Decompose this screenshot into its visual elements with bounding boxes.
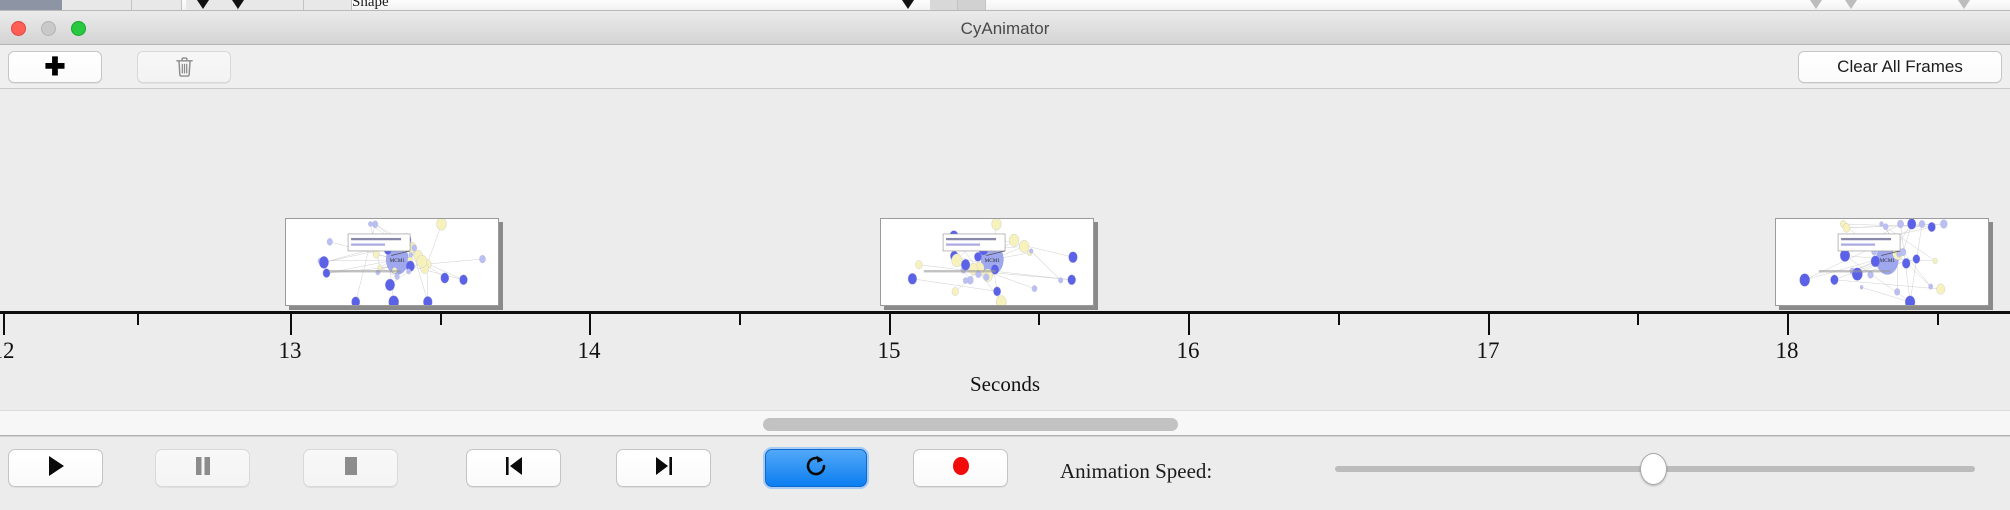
axis-tick-label: 15 (878, 338, 901, 364)
axis-tick-major (1488, 314, 1490, 335)
background-window-marker-icon (902, 0, 914, 9)
frame-image: MCM1 (1775, 218, 1989, 306)
record-icon (949, 453, 973, 484)
skip-back-icon (503, 454, 525, 483)
axis-tick-major (3, 314, 5, 335)
clear-all-frames-label: Clear All Frames (1837, 57, 1963, 77)
play-icon (45, 454, 67, 483)
axis-tick-minor (1338, 314, 1340, 325)
trash-icon (175, 56, 194, 78)
scrollbar-thumb[interactable] (763, 418, 1178, 431)
frame-image: MCM1 (285, 218, 499, 306)
skip-start-button[interactable] (466, 449, 561, 487)
background-window-marker-icon (1958, 0, 1970, 9)
axis-tick-label: 14 (578, 338, 601, 364)
timeline-panel[interactable]: MCM1MCM1MCM1 12131415161718 Seconds (0, 89, 2010, 410)
pause-icon (193, 454, 213, 483)
background-window-marker-icon (232, 0, 244, 9)
svg-text:MCM1: MCM1 (985, 258, 1001, 264)
background-window-selected-tab (0, 0, 62, 11)
skip-forward-icon (653, 454, 675, 483)
axis-tick-label: 17 (1477, 338, 1500, 364)
axis-tick-minor (1038, 314, 1040, 325)
axis-title: Seconds (0, 372, 2010, 397)
svg-text:MCM1: MCM1 (390, 258, 406, 264)
axis-tick-label: 12 (0, 338, 15, 364)
time-axis: 12131415161718 Seconds (0, 311, 2010, 410)
axis-line (0, 311, 2010, 314)
loop-button[interactable] (765, 449, 867, 487)
axis-tick-major (1188, 314, 1190, 335)
cyanimator-window: Shape CyAnimator ✚ Clear All Frames (0, 0, 2010, 510)
background-window-marker-icon (197, 0, 209, 9)
axis-tick-label: 18 (1776, 338, 1799, 364)
timeline-frame-thumbnail[interactable]: MCM1 (1775, 218, 1993, 310)
delete-frame-button[interactable] (137, 51, 231, 83)
axis-tick-major (1787, 314, 1789, 335)
background-window-marker-icon (1845, 0, 1857, 9)
background-window-tab (304, 0, 352, 11)
axis-tick-major (889, 314, 891, 335)
axis-tick-major (290, 314, 292, 335)
timeline-frame-thumbnail[interactable]: MCM1 (880, 218, 1098, 310)
playback-controls: Animation Speed: (0, 436, 2010, 510)
background-window-tab (238, 0, 304, 11)
record-button[interactable] (913, 449, 1008, 487)
axis-tick-minor (137, 314, 139, 325)
background-window-marker-icon (1810, 0, 1822, 9)
axis-tick-major (589, 314, 591, 335)
axis-tick-minor (739, 314, 741, 325)
axis-tick-minor (1937, 314, 1939, 325)
animation-speed-slider[interactable] (1335, 466, 1975, 472)
add-frame-button[interactable]: ✚ (8, 51, 102, 83)
horizontal-scrollbar[interactable] (0, 410, 2010, 436)
background-window-tab (958, 0, 986, 11)
page-title: CyAnimator (0, 19, 2010, 39)
frame-image: MCM1 (880, 218, 1094, 306)
stop-button[interactable] (303, 449, 398, 487)
background-window-sliver: Shape (0, 0, 2010, 11)
stop-icon (341, 454, 361, 483)
background-window-tab (132, 0, 182, 11)
pause-button[interactable] (155, 449, 250, 487)
axis-tick-label: 16 (1177, 338, 1200, 364)
background-window-tab (930, 0, 958, 11)
svg-text:MCM1: MCM1 (1880, 258, 1896, 264)
background-window-title: Shape (352, 0, 389, 11)
clear-all-frames-button[interactable]: Clear All Frames (1798, 51, 2002, 83)
background-window-tab (186, 0, 238, 11)
animation-speed-label: Animation Speed: (1060, 459, 1212, 484)
axis-tick-label: 13 (279, 338, 302, 364)
axis-tick-minor (440, 314, 442, 325)
skip-end-button[interactable] (616, 449, 711, 487)
timeline-frame-thumbnail[interactable]: MCM1 (285, 218, 503, 310)
title-bar: CyAnimator (0, 11, 2010, 45)
toolbar: ✚ Clear All Frames (0, 45, 2010, 89)
plus-icon: ✚ (45, 55, 66, 80)
axis-tick-minor (1637, 314, 1639, 325)
slider-thumb[interactable] (1640, 453, 1667, 485)
loop-icon (804, 453, 828, 484)
background-window-tab (62, 0, 132, 11)
play-button[interactable] (8, 449, 103, 487)
